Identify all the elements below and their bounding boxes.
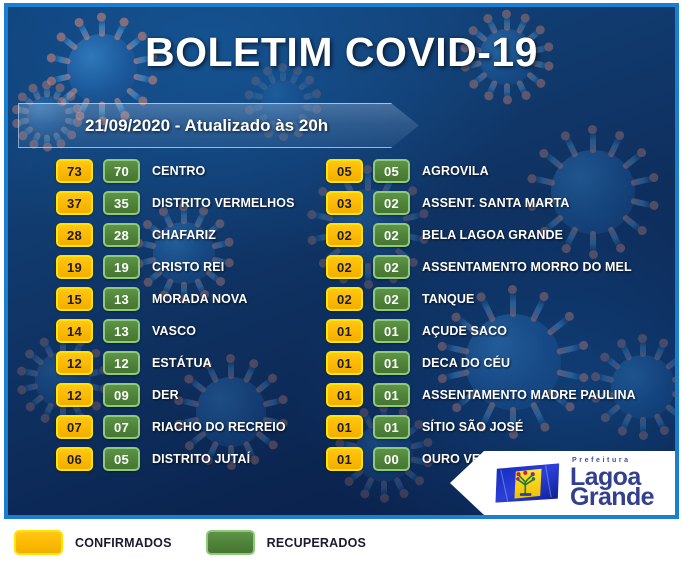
locality-name-label: SÍTIO SÃO JOSÉ xyxy=(422,420,523,434)
locality-row: 0302ASSENT. SANTA MARTA xyxy=(326,191,675,215)
recovered-count-badge: 19 xyxy=(103,255,140,279)
confirmed-count-badge: 28 xyxy=(56,223,93,247)
confirmed-count-badge: 01 xyxy=(326,319,363,343)
recovered-count-badge: 02 xyxy=(373,223,410,247)
locality-row: 0505AGROVILA xyxy=(326,159,675,183)
recovered-count-badge: 00 xyxy=(373,447,410,471)
locality-name-label: VASCO xyxy=(152,324,196,338)
locality-row: 3735DISTRITO VERMELHOS xyxy=(56,191,326,215)
bulletin-frame: BOLETIM COVID-19 21/09/2020 - Atualizado… xyxy=(4,3,679,519)
locality-name-label: BELA LAGOA GRANDE xyxy=(422,228,563,242)
locality-row: 0605DISTRITO JUTAÍ xyxy=(56,447,326,471)
locality-row: 2828CHAFARIZ xyxy=(56,223,326,247)
recovered-count-badge: 13 xyxy=(103,319,140,343)
confirmed-count-badge: 06 xyxy=(56,447,93,471)
locality-row: 0101AÇUDE SACO xyxy=(326,319,675,343)
confirmed-count-badge: 02 xyxy=(326,255,363,279)
locality-row: 1513MORADA NOVA xyxy=(56,287,326,311)
legend-item-confirmed: CONFIRMADOS xyxy=(14,530,172,555)
confirmed-count-badge: 12 xyxy=(56,351,93,375)
recovered-count-badge: 28 xyxy=(103,223,140,247)
confirmed-count-badge: 14 xyxy=(56,319,93,343)
locality-row: 0202BELA LAGOA GRANDE xyxy=(326,223,675,247)
recovered-count-badge: 02 xyxy=(373,255,410,279)
locality-name-label: ESTÁTUA xyxy=(152,356,212,370)
legend-label-confirmed: CONFIRMADOS xyxy=(75,536,172,550)
legend-swatch-confirmed-icon xyxy=(14,530,63,555)
confirmed-count-badge: 01 xyxy=(326,415,363,439)
recovered-count-badge: 01 xyxy=(373,415,410,439)
locality-column-right: 0505AGROVILA0302ASSENT. SANTA MARTA0202B… xyxy=(326,159,675,479)
locality-row: 0101DECA DO CÉU xyxy=(326,351,675,375)
covid-bulletin-infographic: BOLETIM COVID-19 21/09/2020 - Atualizado… xyxy=(0,0,683,568)
locality-name-label: ASSENT. SANTA MARTA xyxy=(422,196,570,210)
locality-name-label: CRISTO REI xyxy=(152,260,224,274)
lagoa-grande-flag-icon xyxy=(494,462,562,504)
logo-line-2: Grande xyxy=(570,485,654,510)
locality-name-label: MORADA NOVA xyxy=(152,292,248,306)
locality-name-label: CHAFARIZ xyxy=(152,228,216,242)
confirmed-count-badge: 01 xyxy=(326,447,363,471)
locality-name-label: DISTRITO JUTAÍ xyxy=(152,452,250,466)
locality-name-label: AGROVILA xyxy=(422,164,489,178)
confirmed-count-badge: 07 xyxy=(56,415,93,439)
city-hall-logo: Prefeitura Lagoa Grande xyxy=(450,451,675,515)
recovered-count-badge: 01 xyxy=(373,351,410,375)
locality-name-label: AÇUDE SACO xyxy=(422,324,507,338)
locality-row: 1919CRISTO REI xyxy=(56,255,326,279)
locality-row: 1209DER xyxy=(56,383,326,407)
confirmed-count-badge: 01 xyxy=(326,351,363,375)
confirmed-count-badge: 01 xyxy=(326,383,363,407)
legend-swatch-recovered-icon xyxy=(206,530,255,555)
confirmed-count-badge: 12 xyxy=(56,383,93,407)
legend: CONFIRMADOS RECUPERADOS xyxy=(14,530,400,555)
locality-row: 1413VASCO xyxy=(56,319,326,343)
confirmed-count-badge: 19 xyxy=(56,255,93,279)
locality-row: 7370CENTRO xyxy=(56,159,326,183)
locality-row: 0101SÍTIO SÃO JOSÉ xyxy=(326,415,675,439)
locality-row: 0202ASSENTAMENTO MORRO DO MEL xyxy=(326,255,675,279)
recovered-count-badge: 02 xyxy=(373,287,410,311)
locality-name-label: DISTRITO VERMELHOS xyxy=(152,196,295,210)
confirmed-count-badge: 02 xyxy=(326,223,363,247)
recovered-count-badge: 13 xyxy=(103,287,140,311)
locality-row: 1212ESTÁTUA xyxy=(56,351,326,375)
recovered-count-badge: 01 xyxy=(373,319,410,343)
recovered-count-badge: 05 xyxy=(373,159,410,183)
recovered-count-badge: 01 xyxy=(373,383,410,407)
locality-row: 0101ASSENTAMENTO MADRE PAULINA xyxy=(326,383,675,407)
date-banner-text: 21/09/2020 - Atualizado às 20h xyxy=(19,116,328,136)
legend-label-recovered: RECUPERADOS xyxy=(267,536,366,550)
recovered-count-badge: 05 xyxy=(103,447,140,471)
date-banner: 21/09/2020 - Atualizado às 20h xyxy=(18,103,419,148)
locality-name-label: ASSENTAMENTO MORRO DO MEL xyxy=(422,260,632,274)
locality-name-label: CENTRO xyxy=(152,164,205,178)
locality-name-label: RIACHO DO RECREIO xyxy=(152,420,286,434)
locality-row: 0707RIACHO DO RECREIO xyxy=(56,415,326,439)
logo-wordmark: Prefeitura Lagoa Grande xyxy=(570,457,654,510)
confirmed-count-badge: 05 xyxy=(326,159,363,183)
locality-name-label: DER xyxy=(152,388,179,402)
recovered-count-badge: 12 xyxy=(103,351,140,375)
confirmed-count-badge: 03 xyxy=(326,191,363,215)
confirmed-count-badge: 73 xyxy=(56,159,93,183)
page-title: BOLETIM COVID-19 xyxy=(8,29,675,76)
locality-column-left: 7370CENTRO3735DISTRITO VERMELHOS2828CHAF… xyxy=(56,159,326,479)
locality-name-label: DECA DO CÉU xyxy=(422,356,510,370)
recovered-count-badge: 09 xyxy=(103,383,140,407)
locality-name-label: TANQUE xyxy=(422,292,474,306)
recovered-count-badge: 70 xyxy=(103,159,140,183)
locality-name-label: ASSENTAMENTO MADRE PAULINA xyxy=(422,388,636,402)
legend-item-recovered: RECUPERADOS xyxy=(206,530,366,555)
recovered-count-badge: 02 xyxy=(373,191,410,215)
recovered-count-badge: 35 xyxy=(103,191,140,215)
confirmed-count-badge: 02 xyxy=(326,287,363,311)
recovered-count-badge: 07 xyxy=(103,415,140,439)
confirmed-count-badge: 15 xyxy=(56,287,93,311)
locality-row: 0202TANQUE xyxy=(326,287,675,311)
confirmed-count-badge: 37 xyxy=(56,191,93,215)
background-panel: BOLETIM COVID-19 21/09/2020 - Atualizado… xyxy=(8,7,675,515)
